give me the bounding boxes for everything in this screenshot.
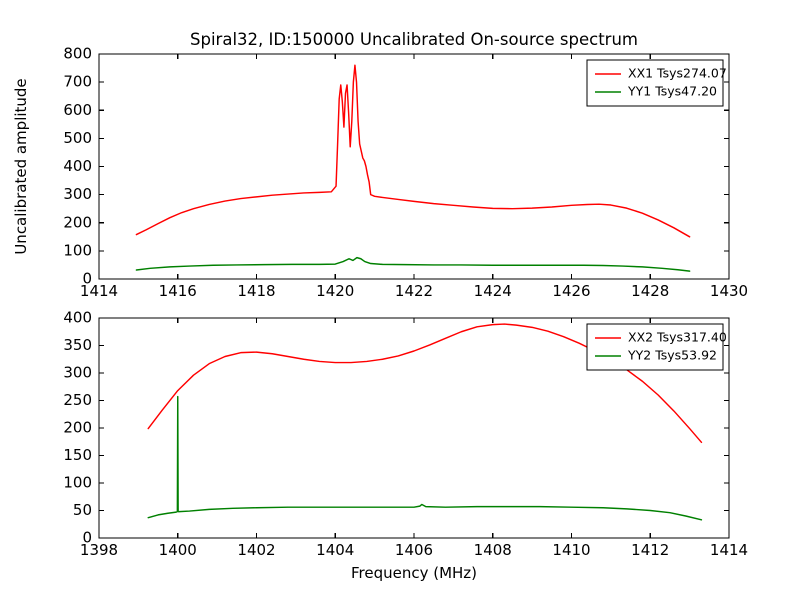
xtick-label-bottom-3: 1404	[316, 541, 354, 559]
xtick-label-bottom-1: 1400	[159, 541, 197, 559]
ytick-label-bottom-0: 0	[82, 529, 92, 547]
series-line-yy2	[148, 397, 701, 520]
ytick-label-top-1: 100	[63, 241, 92, 259]
ytick-label-top-6: 600	[63, 101, 92, 119]
ytick-label-top-4: 400	[63, 157, 92, 175]
ytick-label-bottom-7: 350	[63, 336, 92, 354]
xtick-label-bottom-8: 1414	[710, 541, 748, 559]
xtick-label-bottom-6: 1410	[552, 541, 590, 559]
ytick-label-top-3: 300	[63, 185, 92, 203]
plot-title: Spiral32, ID:150000 Uncalibrated On-sour…	[190, 30, 638, 49]
ytick-label-top-8: 800	[63, 45, 92, 63]
axes-bottom: 1398140014021404140614081410141214140501…	[63, 309, 748, 560]
legend-label-top-0: XX1 Tsys274.07	[628, 66, 727, 81]
xtick-label-bottom-4: 1406	[395, 541, 433, 559]
ytick-label-bottom-1: 50	[73, 501, 92, 519]
xtick-label-top-2: 1418	[237, 282, 275, 300]
ytick-label-bottom-4: 200	[63, 419, 92, 437]
matplotlib-figure: 1414141614181420142214241426142814300100…	[0, 0, 800, 600]
ytick-label-bottom-8: 400	[63, 309, 92, 327]
legend-bottom: XX2 Tsys317.40YY2 Tsys53.92	[587, 324, 727, 370]
xtick-label-top-4: 1422	[395, 282, 433, 300]
spectrum-plot-canvas: 1414141614181420142214241426142814300100…	[0, 0, 800, 600]
xtick-label-top-8: 1430	[710, 282, 748, 300]
xtick-label-bottom-2: 1402	[237, 541, 275, 559]
xtick-label-bottom-7: 1412	[631, 541, 669, 559]
ytick-label-top-7: 700	[63, 73, 92, 91]
xtick-label-top-7: 1428	[631, 282, 669, 300]
xtick-label-bottom-5: 1408	[474, 541, 512, 559]
y-axis-label: Uncalibrated amplitude	[12, 78, 30, 254]
legend-top: XX1 Tsys274.07YY1 Tsys47.20	[587, 60, 727, 106]
xtick-label-top-5: 1424	[474, 282, 512, 300]
xtick-label-top-6: 1426	[552, 282, 590, 300]
ytick-label-bottom-3: 150	[63, 446, 92, 464]
ytick-label-bottom-2: 100	[63, 474, 92, 492]
x-axis-label: Frequency (MHz)	[351, 564, 477, 582]
legend-label-bottom-1: YY2 Tsys53.92	[627, 348, 717, 363]
ytick-label-top-5: 500	[63, 129, 92, 147]
ytick-label-bottom-6: 300	[63, 364, 92, 382]
legend-label-top-1: YY1 Tsys47.20	[627, 84, 717, 99]
ytick-label-bottom-5: 250	[63, 391, 92, 409]
legend-label-bottom-0: XX2 Tsys317.40	[628, 330, 727, 345]
axes-top: 1414141614181420142214241426142814300100…	[63, 45, 748, 301]
series-line-yy1	[136, 258, 689, 272]
xtick-label-top-3: 1420	[316, 282, 354, 300]
xtick-label-top-1: 1416	[159, 282, 197, 300]
ytick-label-top-2: 200	[63, 213, 92, 231]
ytick-label-top-0: 0	[82, 270, 92, 288]
